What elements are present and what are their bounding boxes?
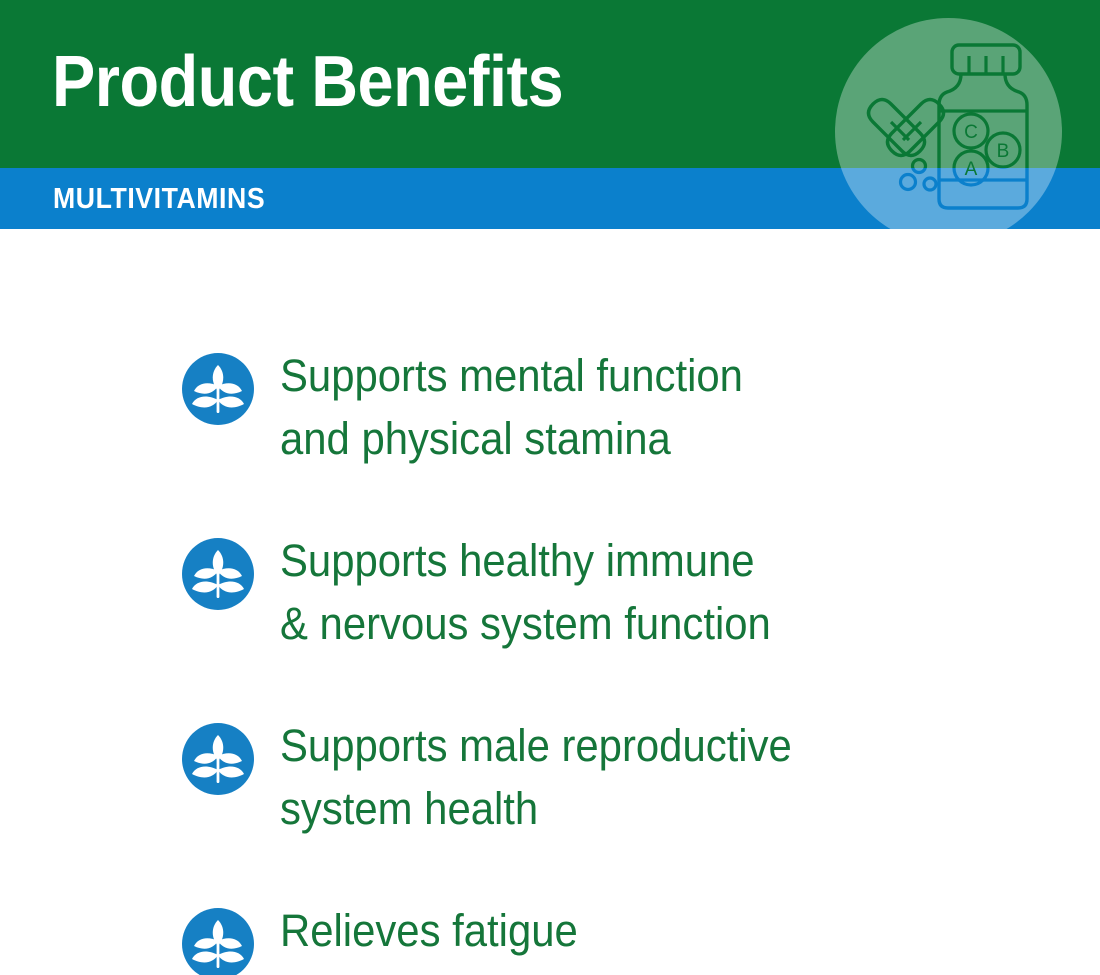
benefit-text: Supports healthy immune & nervous system… — [280, 529, 771, 655]
benefit-line-1: Relieves fatigue — [280, 899, 578, 962]
benefit-text: Supports male reproductive system health — [280, 714, 792, 840]
banner: Product Benefits MULTIVITAMINS — [0, 0, 1100, 229]
banner-graphic: C B A — [835, 18, 1062, 229]
benefit-item: Supports healthy immune & nervous system… — [182, 529, 808, 655]
benefit-item: Supports male reproductive system health — [182, 714, 830, 840]
benefit-line-2: system health — [280, 777, 792, 840]
leaf-plant-icon — [182, 723, 254, 795]
benefit-line-1: Supports healthy immune — [280, 529, 771, 592]
leaf-plant-icon — [182, 538, 254, 610]
benefit-line-2: & nervous system function — [280, 592, 771, 655]
benefit-text: Relieves fatigue — [280, 899, 578, 962]
product-benefits-page: Product Benefits MULTIVITAMINS — [0, 0, 1100, 975]
benefit-text: Supports mental function and physical st… — [280, 344, 743, 470]
vitamin-letter-b: B — [997, 141, 1010, 162]
benefit-item: Supports mental function and physical st… — [182, 344, 778, 470]
leaf-plant-icon — [182, 353, 254, 425]
benefit-item: Relieves fatigue — [182, 899, 600, 975]
vitamin-bottle-and-capsules-icon: C B A — [835, 18, 1062, 229]
vitamin-letter-c: C — [964, 122, 978, 143]
page-title: Product Benefits — [52, 38, 563, 126]
vitamin-letter-a: A — [965, 159, 978, 180]
banner-subtitle: MULTIVITAMINS — [53, 182, 265, 216]
leaf-plant-icon — [182, 908, 254, 975]
benefits-list: Supports mental function and physical st… — [0, 229, 1100, 975]
benefit-line-2: and physical stamina — [280, 407, 743, 470]
benefit-line-1: Supports male reproductive — [280, 714, 792, 777]
benefit-line-1: Supports mental function — [280, 344, 743, 407]
